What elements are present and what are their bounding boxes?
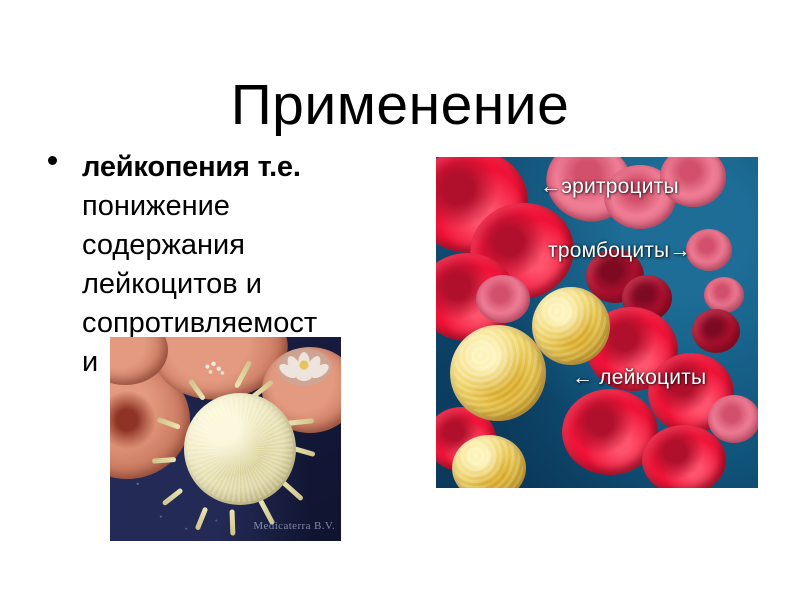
leukocyte-cell	[450, 325, 546, 421]
label-thrombocytes: тромбоциты→	[548, 239, 691, 263]
body-line-2: понижение	[82, 187, 388, 226]
thrombocyte-cell	[704, 277, 744, 313]
platelet-cluster	[203, 361, 225, 375]
body-line-4: лейкоцитов и	[82, 265, 388, 304]
label-leukocytes: ← лейкоциты	[572, 366, 706, 390]
leukocyte-cell	[184, 393, 296, 505]
body-line-3: содержания	[82, 226, 388, 265]
label-erythrocytes: ←эритроциты	[540, 175, 679, 199]
image-watermark: Medicaterra B.V.	[253, 520, 335, 532]
page-title: Применение	[0, 76, 800, 136]
macrophage-image: Medicaterra B.V.	[110, 337, 341, 541]
thrombocyte-cell	[686, 229, 732, 271]
thrombocyte-cell	[692, 309, 740, 353]
bullet-point-icon	[48, 156, 57, 165]
erythrocyte-cell	[476, 275, 530, 323]
body-line-1: лейкопения т.е.	[82, 148, 388, 187]
blood-smear-image: ←эритроциты тромбоциты→ ← лейкоциты	[436, 157, 758, 488]
erythrocyte-cell	[708, 395, 758, 443]
leukocyte-cell	[532, 287, 610, 365]
macrophage-process	[230, 509, 236, 535]
lotus-flower-watermark-icon	[276, 343, 332, 387]
